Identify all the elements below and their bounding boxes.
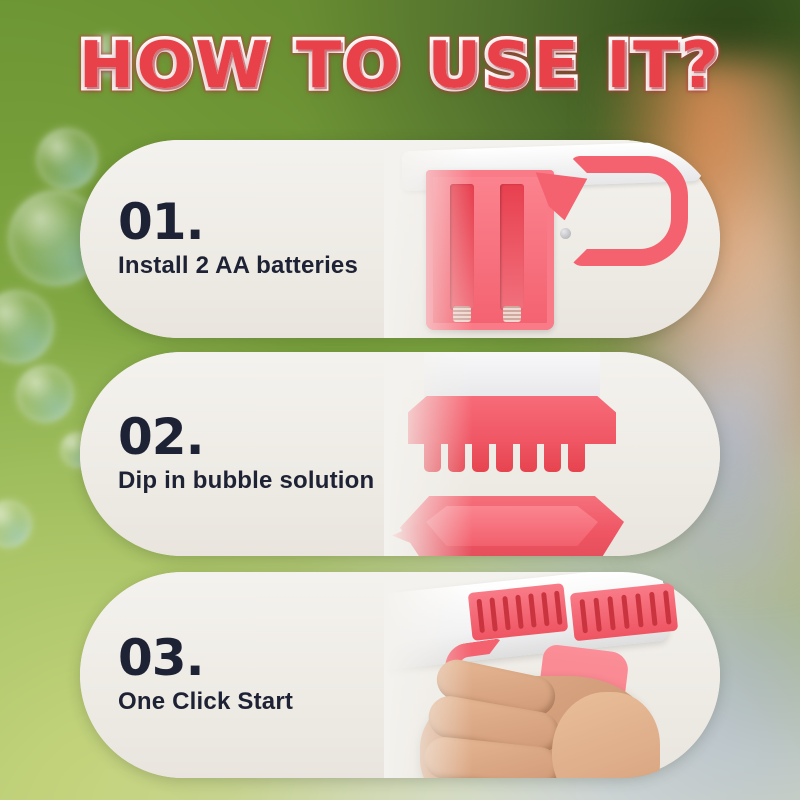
step-3-product-image bbox=[384, 572, 724, 778]
step-1-text: 01. Install 2 AA batteries bbox=[118, 198, 358, 280]
step-2-description: Dip in bubble solution bbox=[118, 466, 374, 495]
bubble-nozzle-head-shape bbox=[408, 396, 616, 444]
gun-barrel-shape bbox=[401, 141, 702, 191]
gun-vent-panel bbox=[570, 583, 678, 642]
gun-body-shape bbox=[384, 572, 669, 671]
soap-bubble-icon bbox=[16, 365, 74, 423]
battery-spring-1 bbox=[453, 306, 471, 322]
battery-slot-2 bbox=[500, 184, 524, 310]
bubble-solution-dish-shape bbox=[400, 496, 624, 556]
step-1-product-image bbox=[384, 140, 724, 338]
gun-barrel-shape bbox=[424, 352, 600, 404]
step-2-text: 02. Dip in bubble solution bbox=[118, 413, 374, 495]
step-2-product-image bbox=[384, 352, 724, 556]
gun-grip-shape bbox=[524, 643, 630, 778]
step-card-3: 03. One Click Start bbox=[80, 572, 720, 778]
step-3-description: One Click Start bbox=[118, 687, 293, 716]
gun-trigger-shape bbox=[442, 638, 510, 708]
nozzle-tube bbox=[544, 442, 561, 472]
step-card-1: 01. Install 2 AA batteries bbox=[80, 140, 720, 338]
step-1-description: Install 2 AA batteries bbox=[118, 251, 358, 280]
finger-shape bbox=[422, 735, 562, 778]
step-3-number: 03. bbox=[118, 634, 293, 683]
nozzle-tube bbox=[448, 442, 465, 472]
finger-shape bbox=[425, 693, 562, 757]
battery-spring-2 bbox=[503, 306, 521, 322]
gun-vent-panel bbox=[468, 583, 568, 641]
nozzle-tube bbox=[520, 442, 537, 472]
step-2-number: 02. bbox=[118, 413, 374, 462]
thumb-shape bbox=[552, 692, 660, 778]
page-title-text: HOW TO USE IT? bbox=[79, 34, 722, 98]
battery-slot-1 bbox=[450, 184, 474, 310]
finger-shape bbox=[433, 656, 559, 720]
battery-compartment-shape bbox=[426, 170, 554, 330]
step-card-2: 02. Dip in bubble solution bbox=[80, 352, 720, 556]
step-1-number: 01. bbox=[118, 198, 358, 247]
hand-shape bbox=[420, 676, 650, 778]
dish-spout bbox=[392, 524, 418, 546]
nozzle-tube bbox=[424, 442, 441, 472]
gun-trigger-shape bbox=[532, 172, 587, 222]
screw-icon bbox=[560, 228, 571, 239]
poster-canvas: HOW TO USE IT? HOW TO USE IT? 01. Instal… bbox=[0, 0, 800, 800]
gun-handle-shape bbox=[570, 156, 688, 266]
step-3-text: 03. One Click Start bbox=[118, 634, 293, 716]
nozzle-tube bbox=[472, 442, 489, 472]
soap-bubble-icon bbox=[36, 128, 98, 190]
nozzle-tube bbox=[568, 442, 585, 472]
dish-inner-basin bbox=[426, 506, 598, 546]
nozzle-tube bbox=[496, 442, 513, 472]
page-title: HOW TO USE IT? bbox=[0, 34, 800, 98]
